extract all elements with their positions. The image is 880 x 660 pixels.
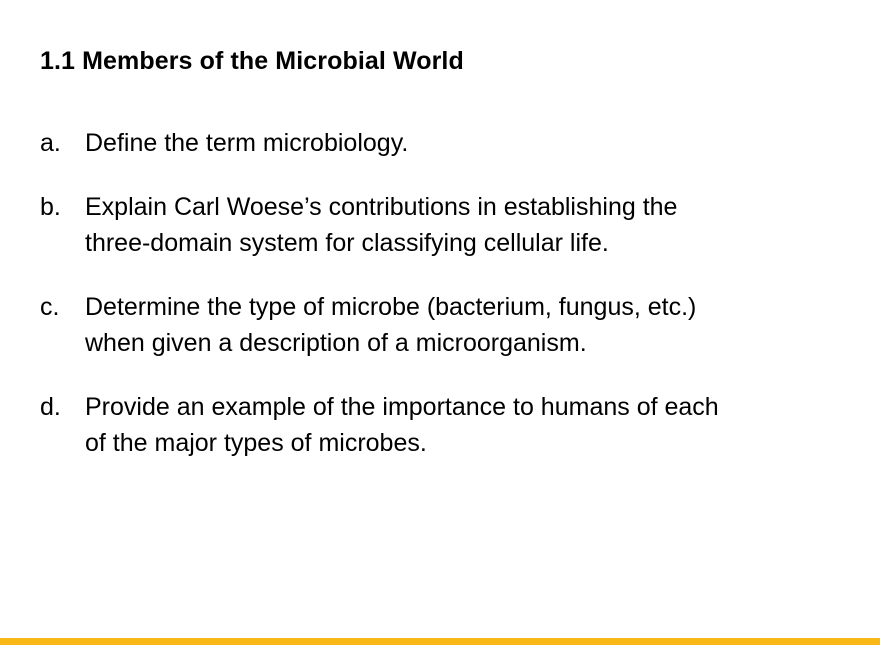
list-item-line: of the major types of microbes. — [85, 425, 852, 461]
footer-space — [0, 645, 880, 660]
list-item-marker: a. — [40, 125, 85, 161]
list-item-marker: c. — [40, 289, 85, 325]
page-title: 1.1 Members of the Microbial World — [40, 45, 464, 77]
slide-canvas: 1.1 Members of the Microbial World a. De… — [0, 0, 880, 660]
objectives-list: a. Define the term microbiology. b. Expl… — [40, 125, 852, 461]
list-item-line: Define the term microbiology. — [85, 125, 852, 161]
list-item-line: three-domain system for classifying cell… — [85, 225, 852, 261]
list-item: a. Define the term microbiology. — [40, 125, 852, 161]
list-item-text: Define the term microbiology. — [85, 125, 852, 161]
list-item-line: Explain Carl Woese’s contributions in es… — [85, 189, 852, 225]
list-item-text: Determine the type of microbe (bacterium… — [85, 289, 852, 361]
list-item-marker: b. — [40, 189, 85, 225]
list-item: d. Provide an example of the importance … — [40, 389, 852, 461]
list-item-marker: d. — [40, 389, 85, 425]
list-item-line: Provide an example of the importance to … — [85, 389, 852, 425]
list-item-line: when given a description of a microorgan… — [85, 325, 852, 361]
list-item-line: Determine the type of microbe (bacterium… — [85, 289, 852, 325]
list-item: b. Explain Carl Woese’s contributions in… — [40, 189, 852, 261]
list-item-text: Explain Carl Woese’s contributions in es… — [85, 189, 852, 261]
accent-bar — [0, 638, 880, 645]
list-item: c. Determine the type of microbe (bacter… — [40, 289, 852, 361]
list-item-text: Provide an example of the importance to … — [85, 389, 852, 461]
